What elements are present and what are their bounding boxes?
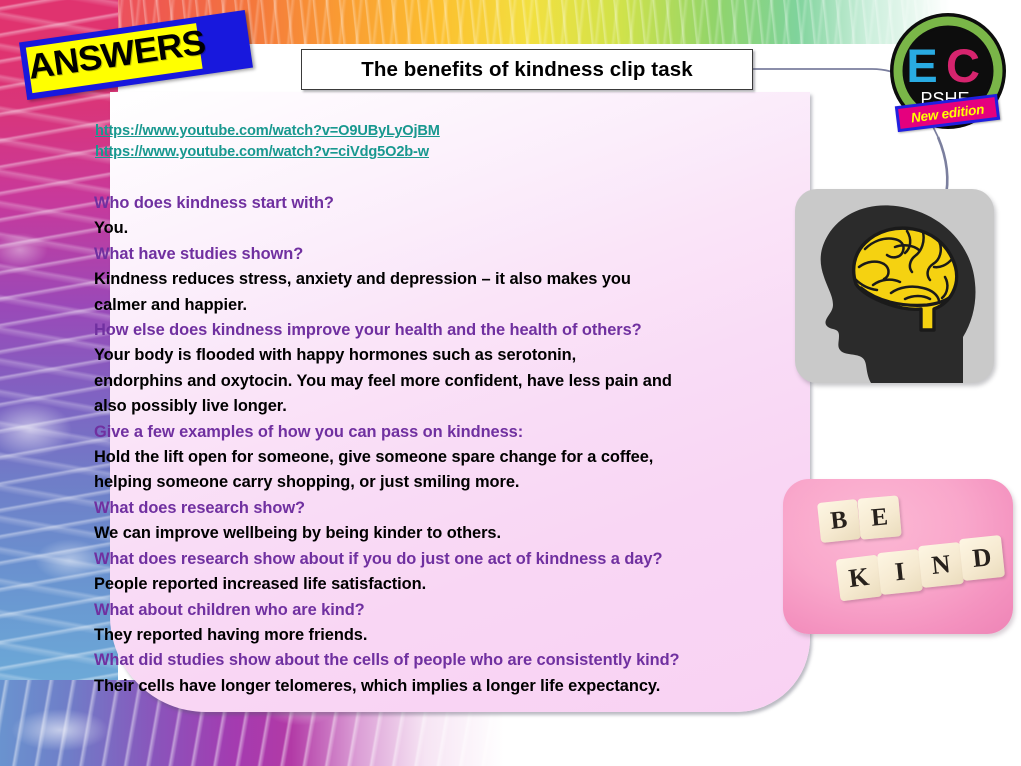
qa-answer: Hold the lift open for someone, give som…: [94, 445, 794, 470]
qa-answer: calmer and happier.: [94, 293, 794, 318]
logo-letter-e: E: [906, 39, 937, 92]
brain-image-card: [795, 189, 994, 383]
qa-answer: We can improve wellbeing by being kinder…: [94, 521, 794, 546]
qa-question: Who does kindness start with?: [94, 191, 794, 216]
qa-answer: People reported increased life satisfact…: [94, 572, 794, 597]
qa-content: Who does kindness start with? You. What …: [94, 191, 794, 699]
qa-answer: also possibly live longer.: [94, 394, 794, 419]
qa-question: What did studies show about the cells of…: [94, 648, 794, 673]
qa-answer: They reported having more friends.: [94, 623, 794, 648]
qa-question: How else does kindness improve your heal…: [94, 318, 794, 343]
qa-answer: helping someone carry shopping, or just …: [94, 470, 794, 495]
page-title: The benefits of kindness clip task: [361, 58, 692, 82]
slide-title-box: The benefits of kindness clip task: [301, 49, 753, 90]
qa-question: What does research show about if you do …: [94, 547, 794, 572]
qa-answer: endorphins and oxytocin. You may feel mo…: [94, 369, 794, 394]
qa-answer: Your body is flooded with happy hormones…: [94, 343, 794, 368]
qa-answer: Kindness reduces stress, anxiety and dep…: [94, 267, 794, 292]
qa-question: What have studies shown?: [94, 242, 794, 267]
video-link-1[interactable]: https://www.youtube.com/watch?v=O9UByLyO…: [95, 121, 655, 142]
letter-tile: K: [836, 555, 883, 602]
be-kind-image-card: B E K I N D: [783, 479, 1013, 634]
letter-tile: D: [959, 535, 1005, 581]
letter-tile: I: [877, 549, 923, 595]
logo-letter-c: C: [946, 39, 980, 92]
qa-question: Give a few examples of how you can pass …: [94, 420, 794, 445]
qa-answer: Their cells have longer telomeres, which…: [94, 674, 794, 699]
letter-tile: E: [857, 495, 901, 539]
video-links: https://www.youtube.com/watch?v=O9UByLyO…: [95, 121, 655, 163]
new-edition-label: New edition: [910, 101, 985, 125]
qa-answer: You.: [94, 216, 794, 241]
brain-head-icon: [795, 189, 994, 383]
letter-tile: N: [918, 542, 964, 588]
qa-question: What does research show?: [94, 496, 794, 521]
letter-tile: B: [817, 499, 861, 543]
video-link-2[interactable]: https://www.youtube.com/watch?v=ciVdg5O2…: [95, 142, 655, 163]
qa-question: What about children who are kind?: [94, 598, 794, 623]
slide-canvas: The benefits of kindness clip task ANSWE…: [0, 0, 1021, 766]
